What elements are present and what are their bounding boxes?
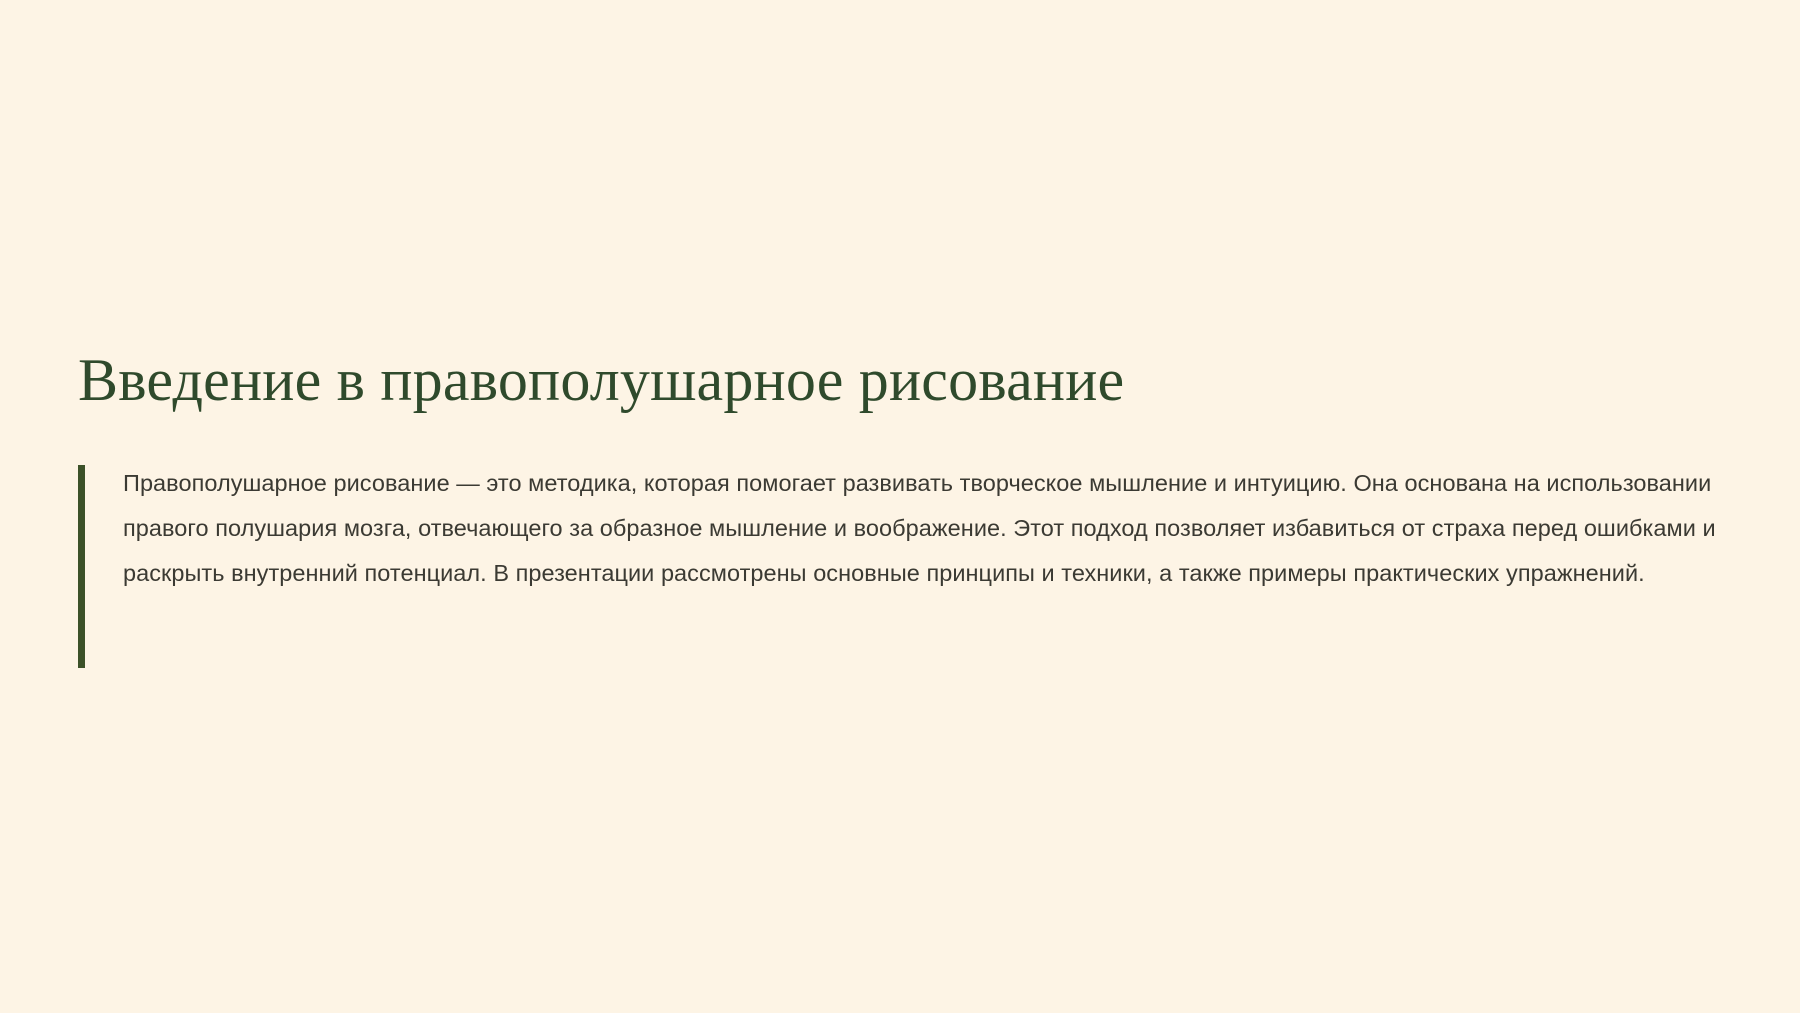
page-title: Введение в правополушарное рисование <box>78 348 1718 413</box>
accent-bar <box>78 465 85 668</box>
slide-content: Введение в правополушарное рисование Пра… <box>78 348 1718 666</box>
body-paragraph: Правополушарное рисование — это методика… <box>123 461 1718 596</box>
body-block: Правополушарное рисование — это методика… <box>78 461 1718 666</box>
presentation-slide: Введение в правополушарное рисование Пра… <box>0 0 1800 1013</box>
